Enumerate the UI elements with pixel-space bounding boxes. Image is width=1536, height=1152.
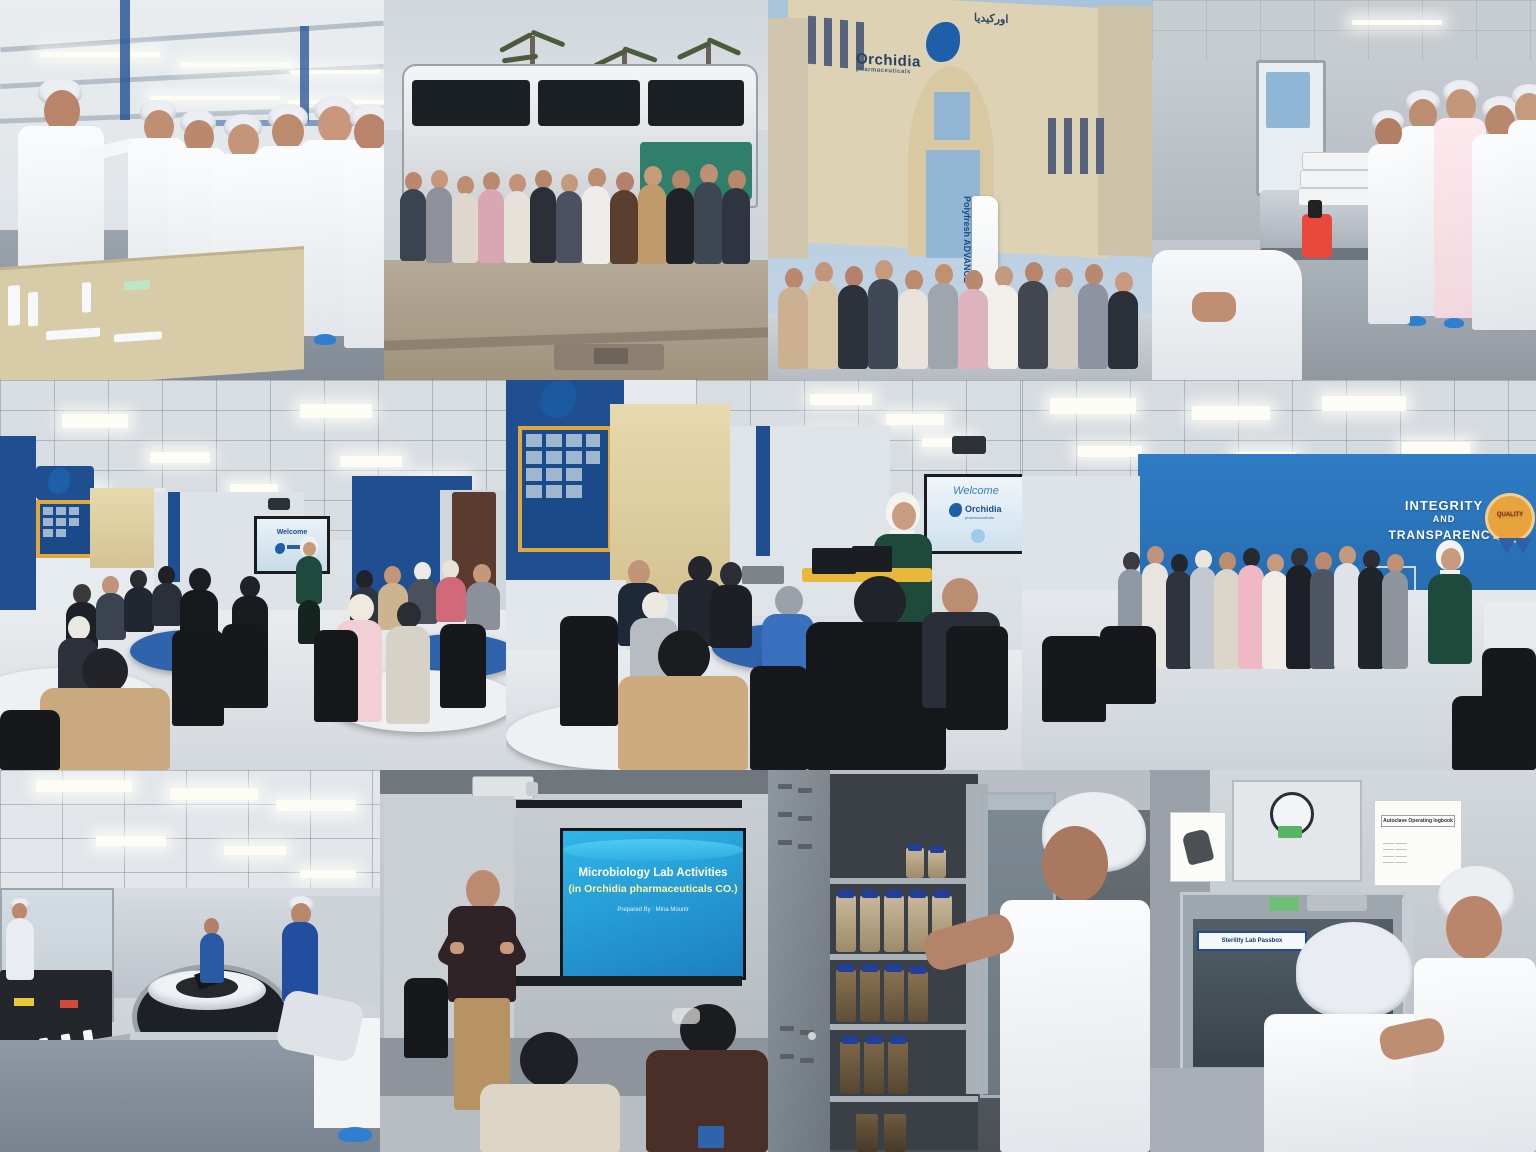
photo-group-beside-bus <box>384 0 768 380</box>
photo-group-mural-room: INTEGRITY AND TRANSPARENCY QUALITY <box>1022 380 1536 770</box>
slide-brand-sub: pharmaceuticals <box>965 515 994 520</box>
collage-row-2: Welcome <box>0 380 1536 770</box>
photo-welcome-presentation: Welcome Orchidia pharmaceuticals <box>506 380 1022 770</box>
photo-pinboard <box>518 426 612 552</box>
mural-line-2: AND <box>1384 514 1504 524</box>
building-sign-arabic: اوركيديا <box>974 11 1008 26</box>
logbook-title: Autoclave Operating logbook <box>1381 815 1455 827</box>
slide-welcome-text: Welcome <box>257 529 327 536</box>
banner-label: Polyfresh ADVANCE <box>962 196 972 222</box>
photo-training-room-wide: Welcome <box>0 380 506 770</box>
photo-sterility-lab-passbox: Autoclave Operating logbook ____ _______… <box>1150 770 1536 1152</box>
photo-factory-production-hall-tour <box>0 0 384 380</box>
collage-row-1: Orchidia pharmaceuticals اوركيديا Polyfr… <box>0 0 1536 380</box>
sample-display-board <box>0 246 304 380</box>
presentation-slide: Microbiology Lab Activities (in Orchidia… <box>560 828 746 980</box>
slide-subtitle: (in Orchidia pharmaceuticals CO.) <box>563 883 743 895</box>
slide-brand: Orchidia <box>965 504 1002 514</box>
photo-bottle-filling-line <box>0 770 380 1152</box>
photo-collage: Orchidia pharmaceuticals اوركيديا Polyfr… <box>0 0 1536 1152</box>
photo-microbiology-presentation: Microbiology Lab Activities (in Orchidia… <box>380 770 768 1152</box>
photo-orchidia-building: Orchidia pharmaceuticals اوركيديا Polyfr… <box>768 0 1152 380</box>
host-presenter <box>1426 540 1474 700</box>
photo-media-storage-cabinet <box>768 770 1150 1152</box>
slide-author: Prepared By : Mina Mounir <box>563 907 743 913</box>
photo-filling-machine-demo <box>1152 0 1536 380</box>
mural-line-1: INTEGRITY <box>1384 498 1504 513</box>
gloves-poster <box>1170 812 1226 882</box>
slide-welcome-title: Welcome <box>927 485 1022 497</box>
slide-title: Microbiology Lab Activities <box>563 867 743 879</box>
projection-screen: Welcome Orchidia pharmaceuticals <box>924 474 1022 554</box>
lab-technician <box>1000 792 1150 1152</box>
badge-label: QUALITY <box>1488 512 1532 518</box>
collage-row-3: Microbiology Lab Activities (in Orchidia… <box>0 770 1536 1152</box>
staff-right <box>1414 866 1536 1152</box>
quality-badge-icon <box>1488 496 1532 540</box>
